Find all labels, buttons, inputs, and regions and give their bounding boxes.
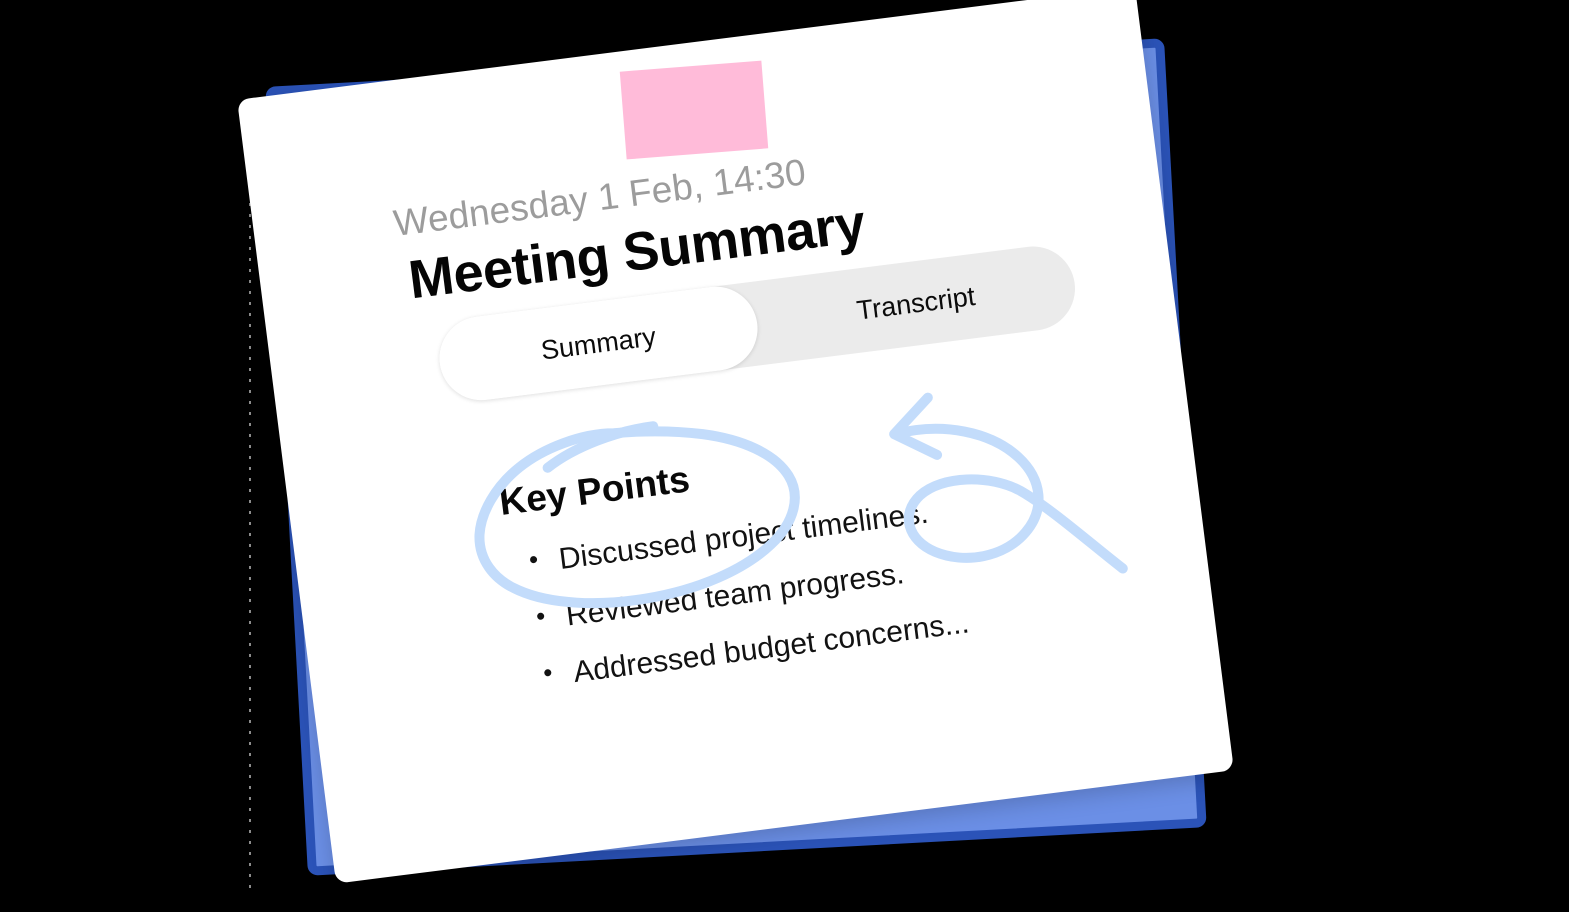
key-points-heading: Key Points	[497, 458, 692, 524]
pink-tape	[620, 61, 768, 160]
key-points-list: Discussed project timelines. Reviewed te…	[523, 493, 974, 717]
left-guide-line	[249, 104, 251, 894]
circle-annotation-inner-icon	[544, 426, 657, 468]
arrowhead-icon	[890, 397, 937, 460]
screen-background: Wednesday 1 Feb, 14:30 Meeting Summary S…	[0, 0, 1569, 912]
